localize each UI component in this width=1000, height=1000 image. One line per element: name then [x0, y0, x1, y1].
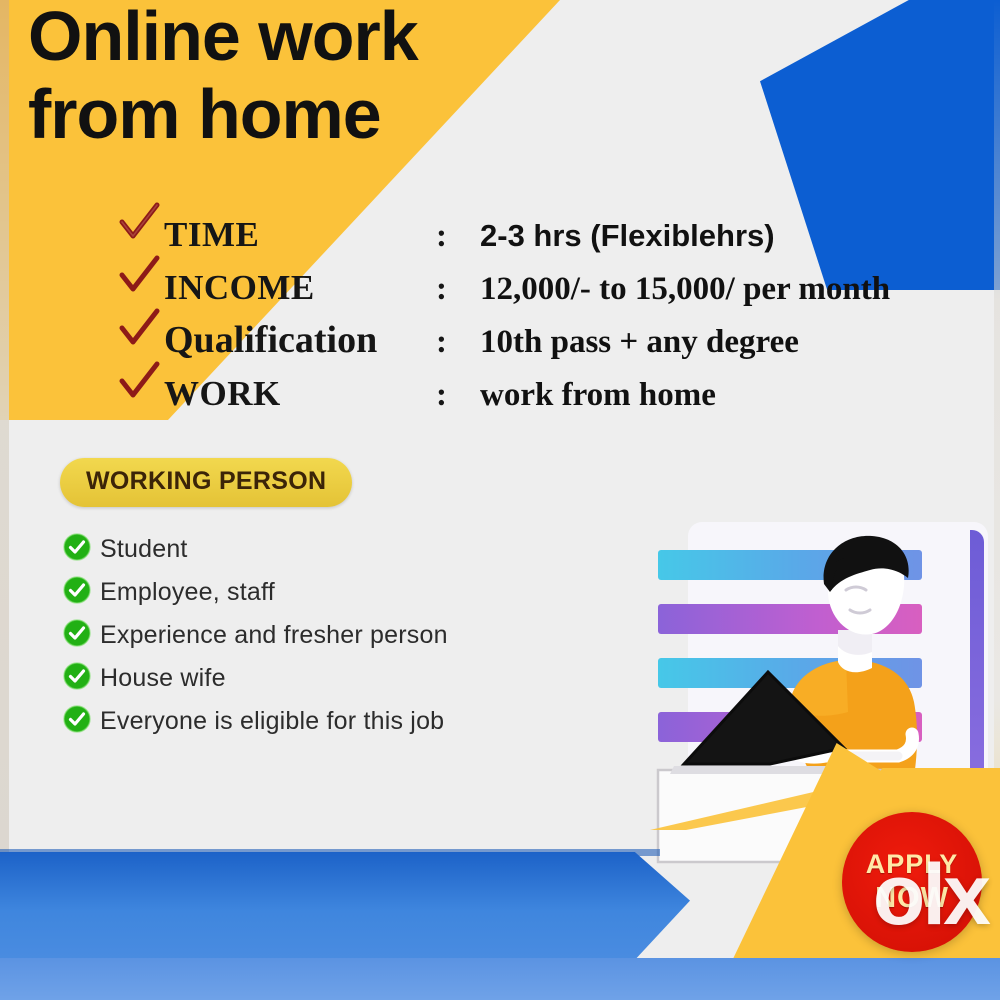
title-line-1: Online work	[28, 4, 668, 68]
list-item: Experience and fresher person	[62, 614, 682, 657]
list-item-label: Employee, staff	[100, 578, 275, 607]
green-check-circle-icon	[62, 618, 100, 653]
spec-colon: :	[436, 377, 480, 414]
working-person-badge-label: WORKING PERSON	[86, 467, 326, 495]
blue-banner-bottom	[0, 852, 690, 960]
list-item-label: House wife	[100, 664, 226, 693]
spec-value: work from home	[480, 377, 716, 414]
apply-now-badge[interactable]: APPLY NOW	[842, 812, 982, 952]
list-item-label: Everyone is eligible for this job	[100, 707, 444, 736]
list-item: Everyone is eligible for this job	[62, 700, 682, 743]
list-item: Employee, staff	[62, 571, 682, 614]
spec-colon: :	[436, 324, 480, 361]
spec-row-qualification: Qualification : 10th pass + any degree	[118, 312, 998, 365]
green-check-circle-icon	[62, 704, 100, 739]
green-check-circle-icon	[62, 661, 100, 696]
apply-now-line-1: APPLY	[866, 851, 959, 878]
spec-row-work: WORK : work from home	[118, 365, 998, 418]
working-person-badge: WORKING PERSON	[60, 458, 352, 507]
list-item-label: Student	[100, 535, 188, 564]
spec-value: 2-3 hrs (Flexiblehrs)	[480, 218, 775, 254]
spec-colon: :	[436, 218, 480, 255]
spec-colon: :	[436, 271, 480, 308]
green-check-circle-icon	[62, 532, 100, 567]
eligibility-list: Student Employee, staff Experience a	[62, 528, 682, 743]
list-item: House wife	[62, 657, 682, 700]
list-item-label: Experience and fresher person	[100, 621, 448, 650]
spec-label: WORK	[164, 374, 436, 414]
spec-value: 12,000/- to 15,000/ per month	[480, 271, 890, 308]
green-check-circle-icon	[62, 575, 100, 610]
poster-canvas: Online work from home TIME : 2-3 hrs (Fl…	[0, 0, 1000, 1000]
spec-label: INCOME	[164, 268, 436, 308]
spec-row-income: INCOME : 12,000/- to 15,000/ per month	[118, 259, 998, 312]
spec-list: TIME : 2-3 hrs (Flexiblehrs) INCOME : 12…	[118, 206, 998, 418]
spec-value: 10th pass + any degree	[480, 324, 799, 361]
title-line-2: from home	[28, 82, 668, 146]
page-title: Online work from home	[28, 4, 668, 147]
spec-row-time: TIME : 2-3 hrs (Flexiblehrs)	[118, 206, 998, 259]
apply-now-line-2: NOW	[875, 884, 949, 913]
check-mark-icon	[118, 365, 164, 405]
spec-label: Qualification	[164, 318, 436, 362]
list-item: Student	[62, 528, 682, 571]
check-mark-icon	[118, 312, 164, 352]
check-mark-icon	[118, 206, 164, 246]
check-mark-icon	[118, 259, 164, 299]
spec-label: TIME	[164, 215, 436, 255]
bottom-light-blue-strip	[0, 958, 1000, 1000]
